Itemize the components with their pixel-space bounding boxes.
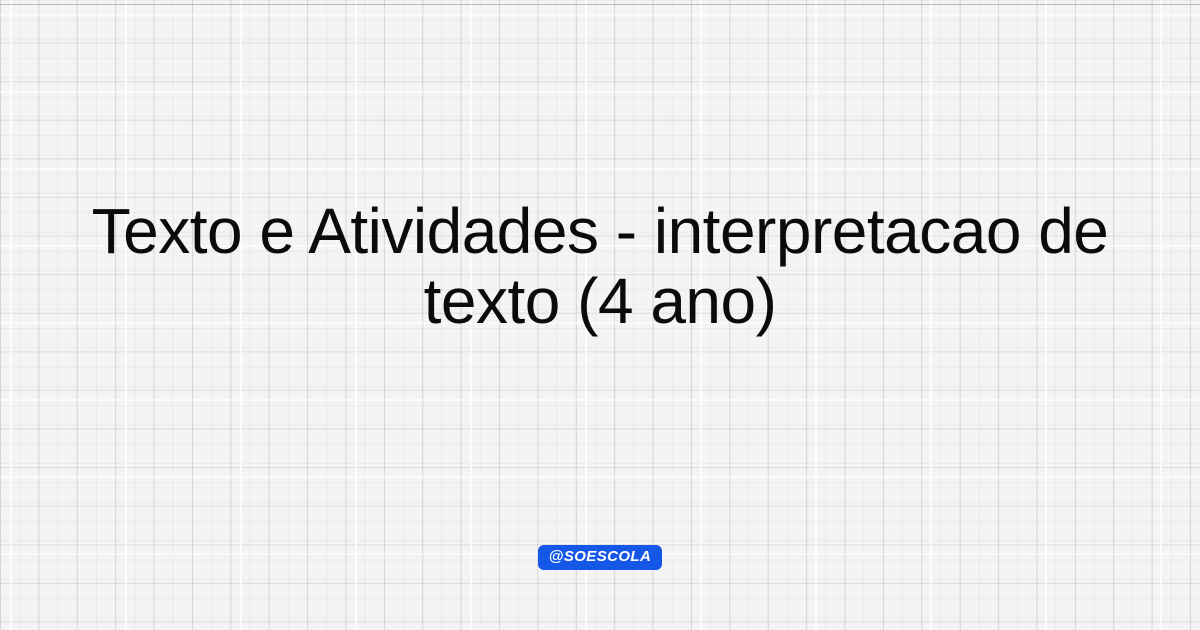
badge-row: @SOESCOLA — [0, 545, 1200, 570]
watermark-badge: @SOESCOLA — [538, 545, 662, 570]
title-line-2: texto (4 ano) — [28, 266, 1172, 336]
thumbnail-canvas: Texto e Atividades - interpretacao de te… — [0, 0, 1200, 630]
title-line-1: Texto e Atividades - interpretacao de — [28, 196, 1172, 266]
top-rule-line — [0, 4, 1200, 5]
page-title: Texto e Atividades - interpretacao de te… — [0, 196, 1200, 336]
